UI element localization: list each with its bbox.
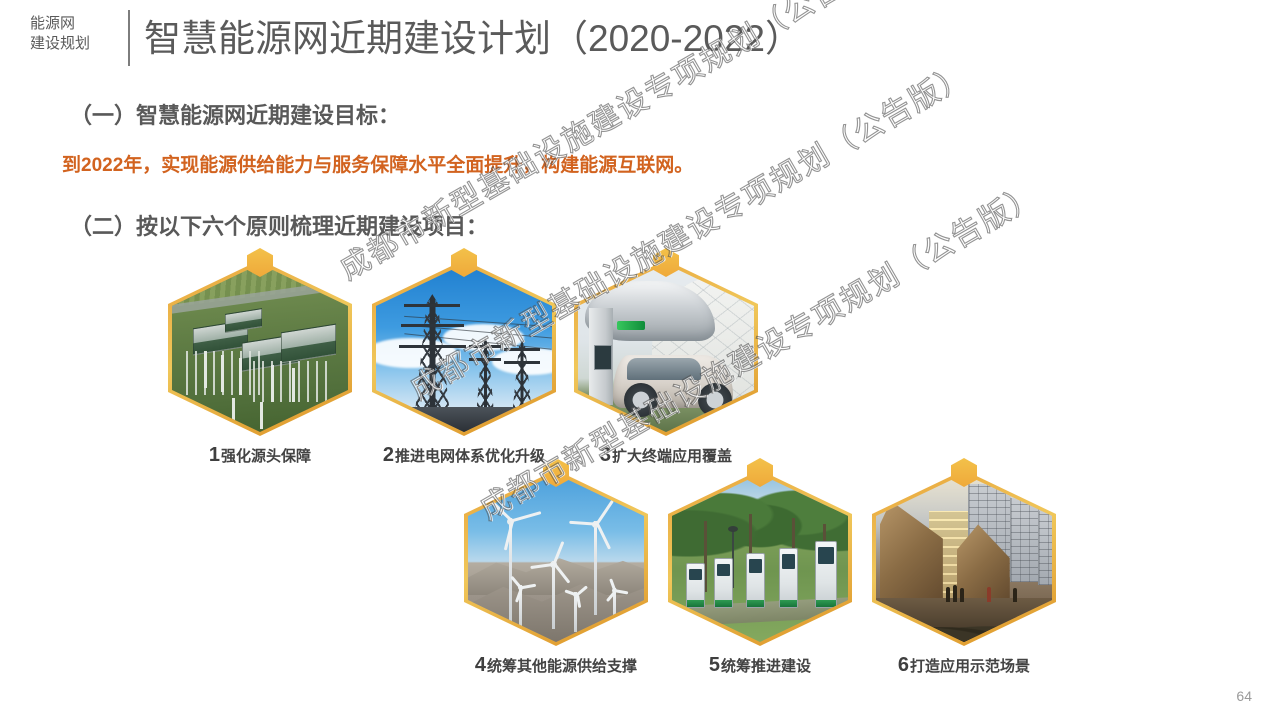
principle-number-3: 3	[600, 444, 611, 466]
principle-caption-6: 6打造应用示范场景	[812, 654, 1116, 677]
principle-number-5: 5	[709, 654, 720, 676]
principle-label-5: 统筹推进建设	[721, 658, 811, 675]
page-number: 64	[1236, 688, 1252, 704]
principle-label-6: 打造应用示范场景	[910, 658, 1030, 675]
hex-photo-pylons	[376, 264, 552, 432]
hex-photo-charging-piles	[672, 474, 848, 642]
principle-hex-grid: 1强化源头保障	[0, 0, 1280, 720]
slide-canvas: 能源网 建设规划 智慧能源网近期建设计划（2020-2022） （一）智慧能源网…	[0, 0, 1280, 720]
hex-photo-ev-charging	[578, 264, 754, 432]
hex-photo-substation	[172, 264, 348, 432]
principle-number-6: 6	[898, 654, 909, 676]
principle-number-4: 4	[475, 654, 486, 676]
principle-label-1: 强化源头保障	[221, 448, 311, 465]
principle-number-2: 2	[383, 444, 394, 466]
principle-label-3: 扩大终端应用覆盖	[612, 448, 732, 465]
hex-photo-wind-farm	[468, 474, 644, 642]
principle-number-1: 1	[209, 444, 220, 466]
hex-photo-architecture	[876, 474, 1052, 642]
